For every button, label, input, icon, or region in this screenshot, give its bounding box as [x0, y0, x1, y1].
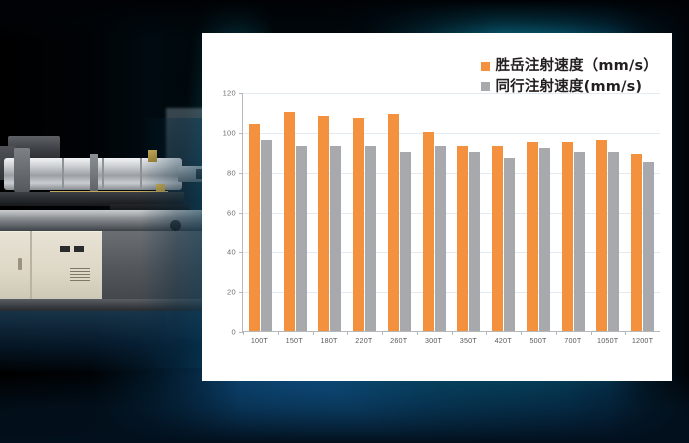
x-axis-tick-label: 220T [346, 336, 381, 345]
x-axis-tick-label: 700T [555, 336, 590, 345]
x-axis-tick [591, 331, 592, 335]
x-axis-tick [313, 331, 314, 335]
x-axis-tick [278, 331, 279, 335]
bar-series-1[interactable] [388, 114, 399, 331]
x-axis-tick [452, 331, 453, 335]
bar-series-1[interactable] [562, 142, 573, 331]
legend-swatch-icon [481, 82, 490, 91]
bar-group [417, 93, 452, 331]
bar-series-1[interactable] [596, 140, 607, 331]
bar-series-2[interactable] [435, 146, 446, 331]
plot-area-wrapper: 020406080100120 100T150T180T220T260T300T… [216, 93, 660, 353]
bar-group [382, 93, 417, 331]
plot-area [242, 93, 660, 332]
machine-cabinet-button [74, 246, 84, 252]
bar-group [521, 93, 556, 331]
y-axis-tick-label: 60 [227, 208, 236, 217]
bar-series-1[interactable] [318, 116, 329, 331]
bar-series-2[interactable] [400, 152, 411, 331]
bar-group [486, 93, 521, 331]
legend-item-series-1: 胜岳注射速度（mm/s） [481, 59, 658, 74]
machine-cabinet-handle [18, 258, 22, 270]
x-axis-tick-label: 100T [242, 336, 277, 345]
x-axis-tick-label: 350T [451, 336, 486, 345]
x-axis-tick [556, 331, 557, 335]
bar-group [625, 93, 660, 331]
x-axis-tick [625, 331, 626, 335]
bar-group [556, 93, 591, 331]
bar-group [591, 93, 626, 331]
x-axis-tick-label: 150T [277, 336, 312, 345]
bar-group [313, 93, 348, 331]
y-axis-tick-label: 120 [223, 89, 236, 98]
x-axis-tick-label: 260T [381, 336, 416, 345]
bar-series-2[interactable] [504, 158, 515, 331]
bar-series-2[interactable] [330, 146, 341, 331]
bar-series-2[interactable] [261, 140, 272, 331]
bar-series-1[interactable] [353, 118, 364, 331]
x-axis-tick [382, 331, 383, 335]
bar-group [347, 93, 382, 331]
machine-barrel-seam [102, 158, 104, 190]
x-axis-tick [347, 331, 348, 335]
bar-series-2[interactable] [574, 152, 585, 331]
bar-series-1[interactable] [631, 154, 642, 331]
bar-series-1[interactable] [423, 132, 434, 331]
machine-cabinet-button [60, 246, 70, 252]
machine-clamp-secondary [90, 154, 98, 194]
x-axis-tick-label: 300T [416, 336, 451, 345]
y-axis-tick-label: 80 [227, 168, 236, 177]
x-axis-tick-label: 420T [486, 336, 521, 345]
bar-series-1[interactable] [457, 146, 468, 331]
x-axis-tick-label: 180T [312, 336, 347, 345]
bar-series-2[interactable] [643, 162, 654, 331]
y-axis-tick-label: 40 [227, 248, 236, 257]
y-axis-tick-label: 20 [227, 288, 236, 297]
bar-series-1[interactable] [527, 142, 538, 331]
y-axis-tick-label: 0 [232, 328, 236, 337]
bar-series-2[interactable] [469, 152, 480, 331]
bar-series-1[interactable] [284, 112, 295, 331]
bar-series-2[interactable] [365, 146, 376, 331]
legend-label: 同行注射速度(mm/s) [495, 80, 642, 95]
bar-series-2[interactable] [608, 152, 619, 331]
machine-cabinet-door-seam [30, 231, 32, 299]
x-axis-tick [243, 331, 244, 335]
machine-clamp [14, 148, 30, 192]
y-axis-tick-label: 100 [223, 128, 236, 137]
x-axis-tick [417, 331, 418, 335]
y-axis-labels: 020406080100120 [216, 93, 240, 332]
legend-item-series-2: 同行注射速度(mm/s) [481, 80, 658, 95]
bar-series-2[interactable] [296, 146, 307, 331]
machine-vent-grille [70, 268, 90, 281]
x-axis-tick-label: 1050T [590, 336, 625, 345]
injection-molding-machine-photo [0, 118, 215, 368]
x-axis-tick [521, 331, 522, 335]
legend-swatch-icon [481, 62, 490, 71]
bar-series-2[interactable] [539, 148, 550, 331]
slide-canvas: 胜岳注射速度（mm/s） 同行注射速度(mm/s) 02040608010012… [0, 0, 689, 443]
machine-barrel-seam [62, 158, 64, 190]
x-axis-labels: 100T150T180T220T260T300T350T420T500T700T… [242, 336, 660, 345]
bar-group [243, 93, 278, 331]
machine-control-cabinet [0, 231, 102, 300]
x-axis-tick-label: 1200T [625, 336, 660, 345]
bar-group [452, 93, 487, 331]
bar-groups [243, 93, 660, 331]
chart-panel: 胜岳注射速度（mm/s） 同行注射速度(mm/s) 02040608010012… [202, 33, 672, 381]
bar-series-1[interactable] [492, 146, 503, 331]
background-bottom-vignette [0, 373, 689, 443]
legend-label: 胜岳注射速度（mm/s） [495, 59, 658, 74]
x-axis-tick [486, 331, 487, 335]
x-axis-tick-label: 500T [521, 336, 556, 345]
bar-series-1[interactable] [249, 124, 260, 331]
bar-group [278, 93, 313, 331]
